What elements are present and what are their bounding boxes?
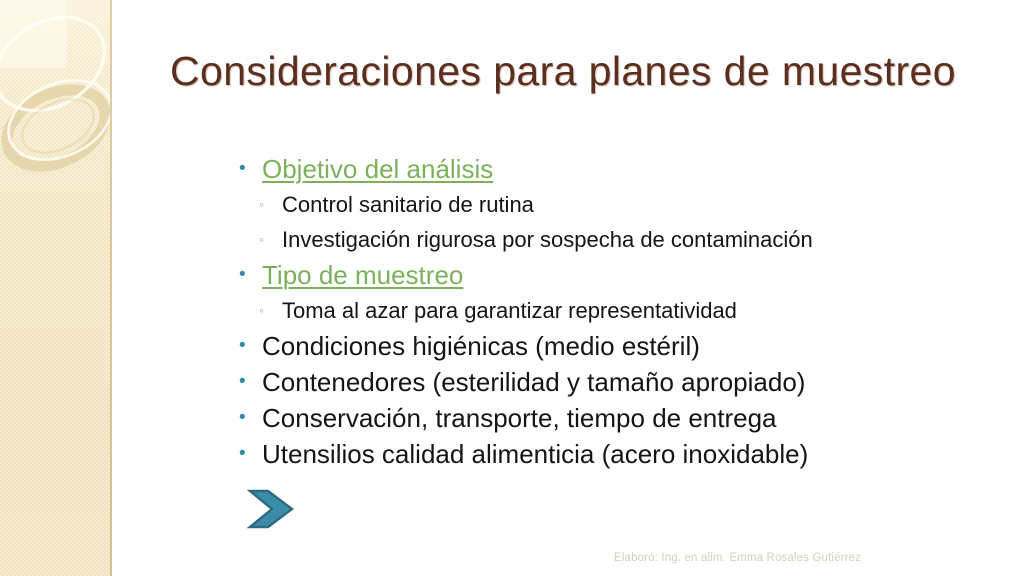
hollow-circle-icon: ◦	[258, 223, 282, 256]
list-item-label: Conservación, transporte, tiempo de entr…	[262, 401, 777, 435]
list-item: • Condiciones higiénicas (medio estéril)	[236, 329, 976, 365]
bullet-dot-icon: •	[236, 437, 262, 471]
bullet-dot-icon: •	[236, 152, 262, 186]
slide-canvas: Consideraciones para planes de muestreo …	[0, 0, 1024, 576]
list-item: ◦ Control sanitario de rutina	[236, 188, 976, 223]
decorative-sidebar	[0, 0, 112, 576]
list-item: • Conservación, transporte, tiempo de en…	[236, 401, 976, 437]
list-item-label: Utensilios calidad alimenticia (acero in…	[262, 437, 808, 471]
list-item-label: Control sanitario de rutina	[282, 188, 534, 221]
list-item: • Tipo de muestreo	[236, 258, 976, 294]
sidebar-rings-graphic	[0, 0, 112, 576]
bullet-dot-icon: •	[236, 329, 262, 363]
list-item-label: Investigación rigurosa por sospecha de c…	[282, 223, 813, 256]
list-item-label: Objetivo del análisis	[262, 152, 493, 186]
hollow-circle-icon: ◦	[258, 294, 282, 327]
list-item: • Utensilios calidad alimenticia (acero …	[236, 437, 976, 473]
chevron-right-arrow-icon	[247, 487, 297, 533]
list-item: ◦ Toma al azar para garantizar represent…	[236, 294, 976, 329]
list-item-label: Tipo de muestreo	[262, 258, 463, 292]
list-item-label: Contenedores (esterilidad y tamaño aprop…	[262, 365, 805, 399]
bullet-list: • Objetivo del análisis ◦ Control sanita…	[236, 152, 976, 473]
bullet-dot-icon: •	[236, 258, 262, 292]
bullet-dot-icon: •	[236, 365, 262, 399]
bullet-dot-icon: •	[236, 401, 262, 435]
footer-credit: Elaboró: Ing. en alim. Emma Rosales Guti…	[614, 551, 861, 565]
sidebar-right-border	[110, 0, 112, 576]
list-item: • Contenedores (esterilidad y tamaño apr…	[236, 365, 976, 401]
list-item-label: Condiciones higiénicas (medio estéril)	[262, 329, 700, 363]
list-item: ◦ Investigación rigurosa por sospecha de…	[236, 223, 976, 258]
list-item: • Objetivo del análisis	[236, 152, 976, 188]
slide-title: Consideraciones para planes de muestreo	[170, 45, 970, 97]
hollow-circle-icon: ◦	[258, 188, 282, 221]
list-item-label: Toma al azar para garantizar representat…	[282, 294, 737, 327]
